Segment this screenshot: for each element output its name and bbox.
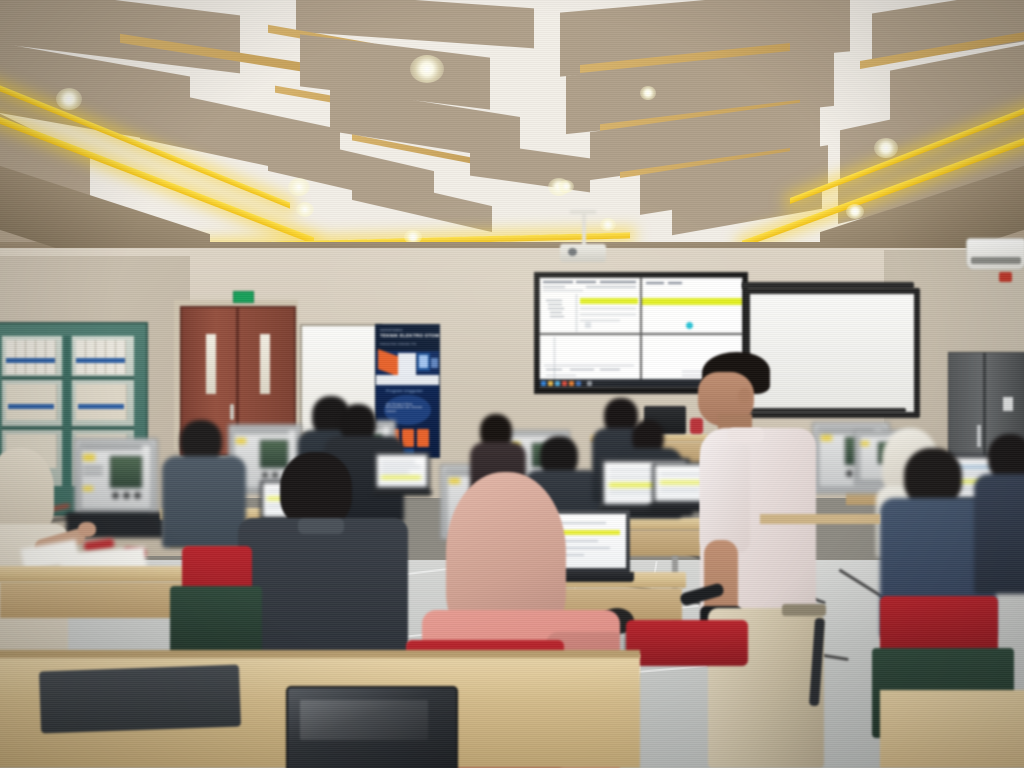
chair[interactable] [626,620,748,666]
exit-sign [233,291,254,303]
collar [298,518,344,534]
laptop[interactable] [374,452,430,496]
downlight-icon [846,204,864,219]
emergency-light [999,272,1012,282]
projection-screen [744,288,920,418]
classroom-photo-scene: DEPARTEMEN TEKNIK ELEKTRO OTOMASI FAKULT… [0,0,1024,768]
door-handle[interactable] [230,404,234,420]
downlight-icon [874,138,898,158]
downlight-icon [410,55,444,83]
cabinet-handle[interactable] [977,425,981,447]
light-haze [300,180,760,400]
laptop[interactable] [286,686,454,768]
projection-screen-bottom-bar [748,408,906,413]
air-conditioner [966,238,1024,270]
laptop-screen-reflection [300,700,428,740]
belt [782,604,826,616]
desk-panel [0,582,196,618]
kit-display [110,456,142,488]
foreground-desk-right [880,690,1024,768]
collar [728,428,764,442]
right-table-edge [760,514,880,524]
red-container [690,418,703,434]
left-front-desk [0,566,200,582]
banner-line-5: Alat Peraga & Riset Berkelanjutan dan Ot… [386,403,430,413]
downlight-icon [640,86,656,100]
hand [78,522,96,537]
kit-display [260,440,288,468]
downlight-icon [56,88,82,110]
mousepad [39,665,241,734]
foreground-desk-edge [0,650,640,658]
shirt-sleeve [700,444,750,552]
highlighted-row [381,476,421,479]
relay-test-trainer-kit [74,438,154,516]
chair[interactable] [170,586,262,656]
